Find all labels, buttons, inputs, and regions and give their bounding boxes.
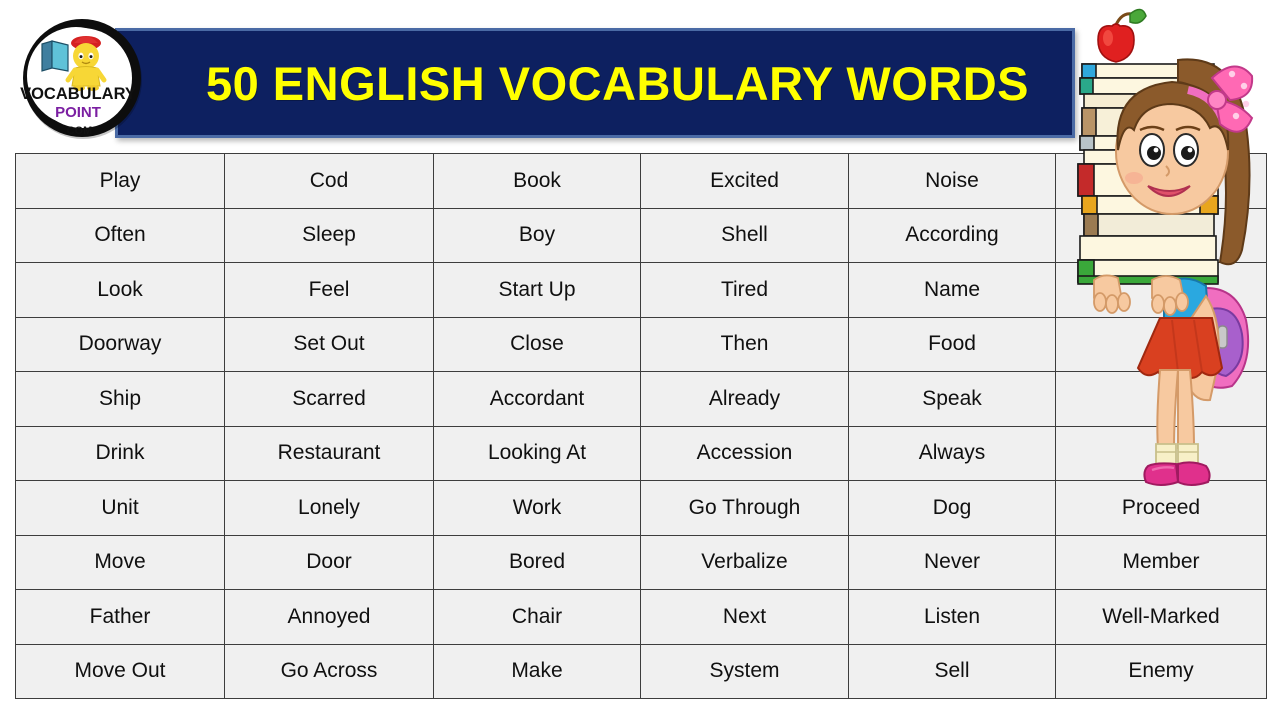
vocab-cell: Food (849, 317, 1056, 372)
table-row: Drink Restaurant Looking At Accession Al… (16, 426, 1267, 481)
table-row: Unit Lonely Work Go Through Dog Proceed (16, 481, 1267, 536)
vocab-cell: Look (16, 263, 225, 318)
table-row: Doorway Set Out Close Then Food (16, 317, 1267, 372)
vocab-cell: Door (225, 535, 434, 590)
vocab-cell: Bored (434, 535, 641, 590)
vocab-cell (1056, 426, 1267, 481)
vocab-cell: Excited (641, 154, 849, 209)
vocab-cell (1056, 208, 1267, 263)
vocab-cell (1056, 372, 1267, 427)
vocab-cell: Sell (849, 644, 1056, 699)
vocab-cell: Ship (16, 372, 225, 427)
page-title: 50 ENGLISH VOCABULARY WORDS (161, 56, 1029, 111)
vocab-cell: Cod (225, 154, 434, 209)
vocab-cell: Work (434, 481, 641, 536)
vocab-cell: Lonely (225, 481, 434, 536)
vocab-cell: Tired (641, 263, 849, 318)
table-row: Often Sleep Boy Shell According (16, 208, 1267, 263)
vocab-cell: Close (434, 317, 641, 372)
vocab-cell: Go Across (225, 644, 434, 699)
vocab-cell: Proceed (1056, 481, 1267, 536)
vocab-cell: Set Out (225, 317, 434, 372)
logo-text-vocabulary: VOCABULARY (20, 85, 136, 103)
vocab-cell: Restaurant (225, 426, 434, 481)
vocab-cell: According (849, 208, 1056, 263)
vocab-cell: Move Out (16, 644, 225, 699)
vocab-cell: Then (641, 317, 849, 372)
vocab-cell: Book (434, 154, 641, 209)
vocab-cell: Play (16, 154, 225, 209)
vocab-cell: Name (849, 263, 1056, 318)
logo-icon: VOCABULARY POINT .COM (18, 14, 146, 142)
vocab-cell: System (641, 644, 849, 699)
vocab-cell: Feel (225, 263, 434, 318)
logo-text-point: POINT (55, 104, 101, 121)
vocab-cell (1056, 154, 1267, 209)
logo-text-com: .COM (64, 125, 93, 137)
vocab-cell: Sleep (225, 208, 434, 263)
vocab-cell: Accession (641, 426, 849, 481)
vocab-cell: Never (849, 535, 1056, 590)
vocab-cell: Annoyed (225, 590, 434, 645)
vocab-cell: Go Through (641, 481, 849, 536)
vocab-cell: Father (16, 590, 225, 645)
vocab-cell: Doorway (16, 317, 225, 372)
vocab-cell: Drink (16, 426, 225, 481)
vocab-cell: Enemy (1056, 644, 1267, 699)
vocab-cell: Make (434, 644, 641, 699)
vocabulary-table: Play Cod Book Excited Noise Often Sleep … (15, 153, 1267, 699)
vocab-cell: Scarred (225, 372, 434, 427)
vocab-cell: Noise (849, 154, 1056, 209)
title-banner: 50 ENGLISH VOCABULARY WORDS (115, 28, 1075, 138)
table-row: Move Out Go Across Make System Sell Enem… (16, 644, 1267, 699)
vocab-cell: Start Up (434, 263, 641, 318)
vocab-cell (1056, 317, 1267, 372)
vocab-cell: Dog (849, 481, 1056, 536)
page-header: 50 ENGLISH VOCABULARY WORDS (0, 0, 1280, 150)
vocab-cell: Shell (641, 208, 849, 263)
vocab-cell: Often (16, 208, 225, 263)
vocabulary-point-logo: VOCABULARY POINT .COM (18, 14, 146, 142)
table-row: Look Feel Start Up Tired Name (16, 263, 1267, 318)
vocab-cell: Speak (849, 372, 1056, 427)
vocab-cell (1056, 263, 1267, 318)
vocab-cell: Move (16, 535, 225, 590)
table-row: Father Annoyed Chair Next Listen Well-Ma… (16, 590, 1267, 645)
vocab-cell: Always (849, 426, 1056, 481)
vocab-cell: Unit (16, 481, 225, 536)
vocab-cell: Member (1056, 535, 1267, 590)
table-row: Ship Scarred Accordant Already Speak (16, 372, 1267, 427)
vocab-cell: Listen (849, 590, 1056, 645)
vocab-cell: Looking At (434, 426, 641, 481)
vocab-cell: Chair (434, 590, 641, 645)
table-row: Play Cod Book Excited Noise (16, 154, 1267, 209)
vocab-cell: Boy (434, 208, 641, 263)
vocab-cell: Well-Marked (1056, 590, 1267, 645)
vocab-cell: Verbalize (641, 535, 849, 590)
vocab-cell: Already (641, 372, 849, 427)
vocab-cell: Accordant (434, 372, 641, 427)
vocab-cell: Next (641, 590, 849, 645)
table-row: Move Door Bored Verbalize Never Member (16, 535, 1267, 590)
